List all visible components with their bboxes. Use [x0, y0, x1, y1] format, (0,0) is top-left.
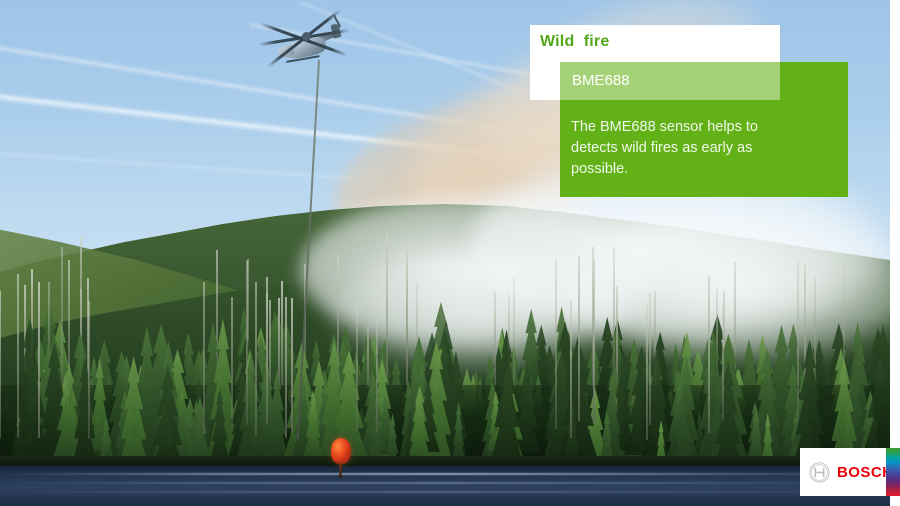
water-bucket — [331, 438, 351, 464]
helicopter — [262, 18, 346, 70]
lake — [0, 466, 890, 506]
card-title: Wild fire — [540, 33, 609, 51]
right-gutter — [890, 0, 900, 506]
card-subtitle-sensor-name: BME688 — [572, 72, 630, 89]
bosch-wordmark: BOSCH — [837, 465, 893, 480]
slide-canvas: Wild fire BME688 The BME688 sensor helps… — [0, 0, 900, 506]
bosch-logo: BOSCH — [800, 448, 886, 496]
shoreline — [0, 456, 890, 466]
card-body-text: The BME688 sensor helps to detects wild … — [571, 117, 821, 180]
bosch-supergraphic — [886, 448, 900, 496]
water-bucket-strap — [339, 462, 342, 478]
bosch-anchor-symbol — [809, 462, 830, 483]
